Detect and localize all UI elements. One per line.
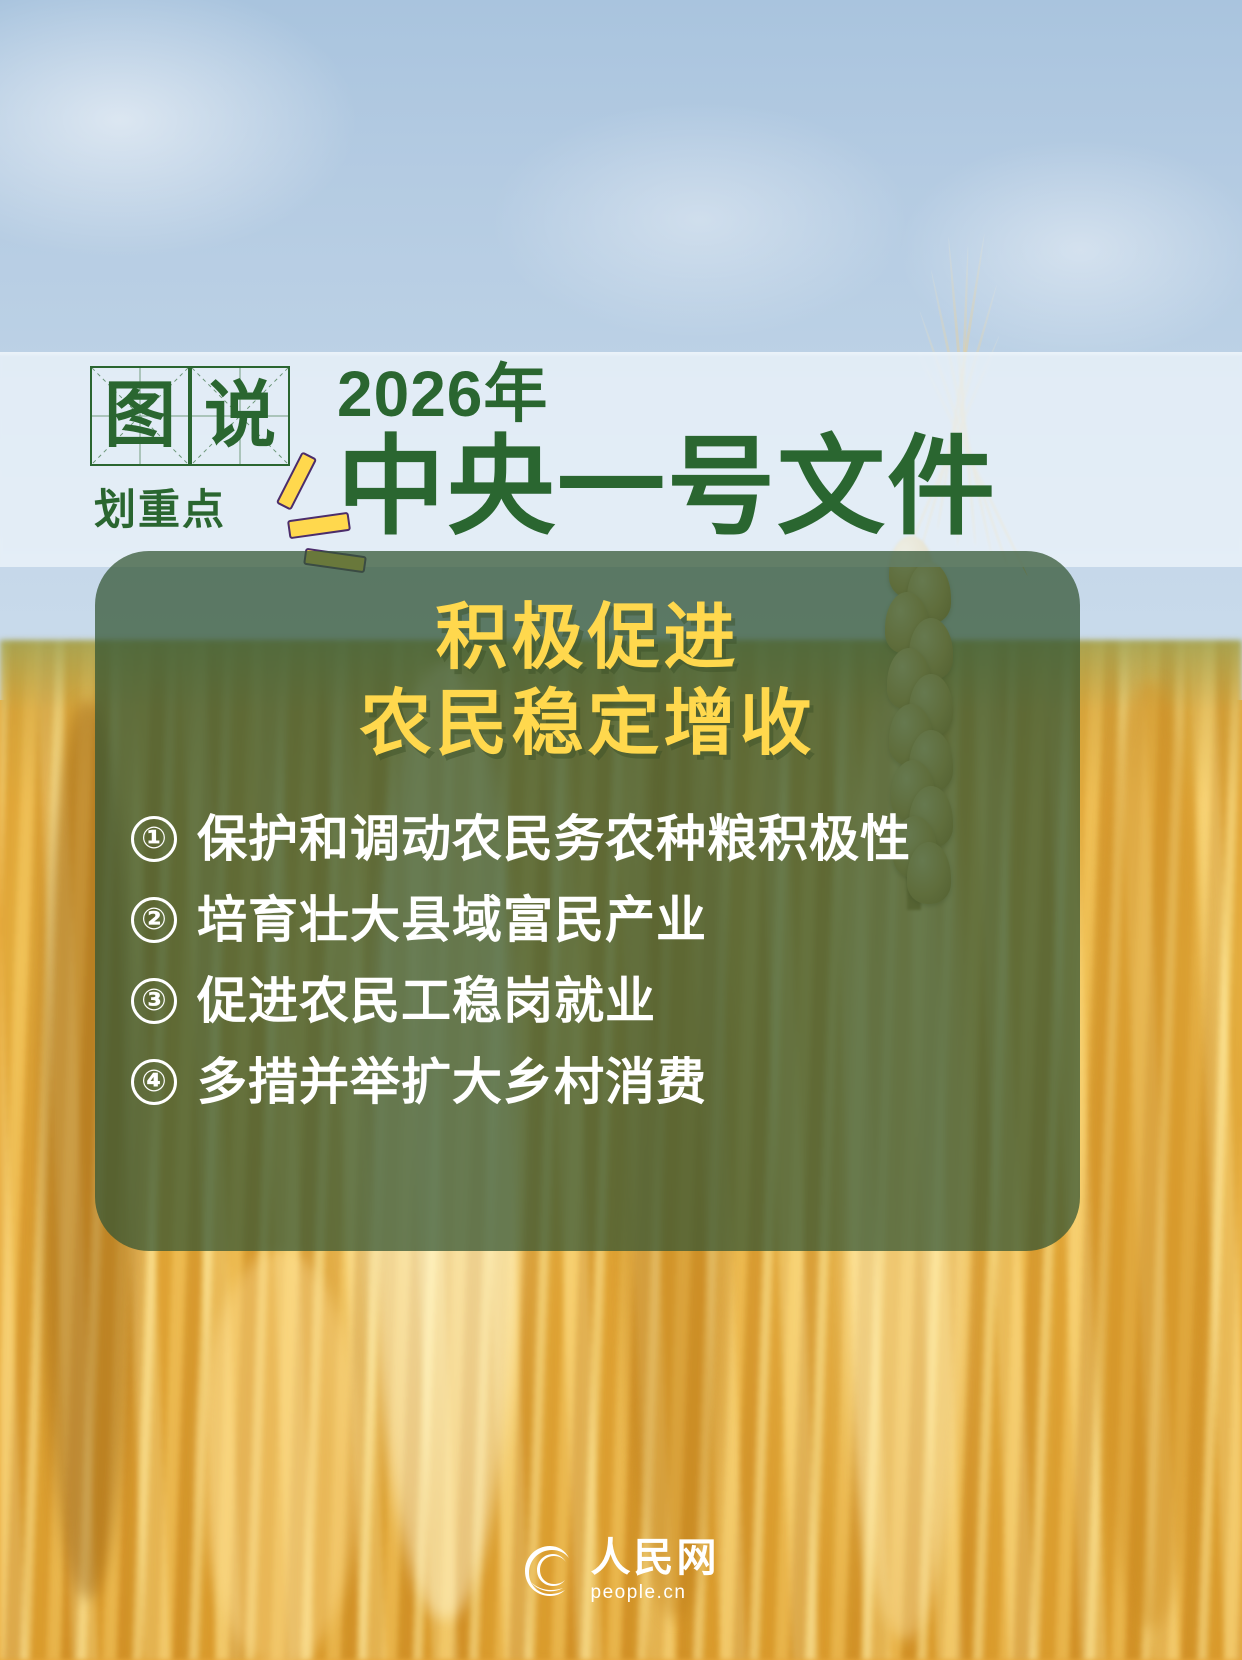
list-item: ④ 多措并举扩大乡村消费	[131, 1055, 1080, 1110]
logo-subtitle: 划重点	[94, 476, 295, 537]
list-item-number: ①	[131, 816, 177, 862]
list-item-label: 培育壮大县域富民产业	[197, 893, 707, 948]
dash-mark-1	[276, 451, 317, 510]
logo-grid-boxes: 图 说	[90, 366, 295, 466]
list-item: ② 培育壮大县域富民产业	[131, 893, 1080, 948]
people-cn-logo: 人民网 people.cn	[0, 1538, 1242, 1604]
list-item-number: ④	[131, 1059, 177, 1105]
grid-box-2: 说	[190, 366, 290, 466]
card-heading: 积极促进 农民稳定增收	[95, 595, 1080, 768]
people-cn-domain: people.cn	[591, 1582, 687, 1604]
list-item: ③ 促进农民工稳岗就业	[131, 974, 1080, 1029]
grid-box-1: 图	[90, 366, 190, 466]
content-card: 积极促进 农民稳定增收 ① 保护和调动农民务农种粮积极性 ② 培育壮大县域富民产…	[95, 551, 1080, 1251]
logo-char-2: 说	[204, 380, 276, 452]
people-cn-mark-icon	[523, 1544, 577, 1598]
list-item: ① 保护和调动农民务农种粮积极性	[131, 812, 1080, 867]
list-item-number: ②	[131, 897, 177, 943]
people-cn-name: 人民网	[591, 1538, 720, 1578]
title-year: 2026年	[337, 362, 997, 426]
card-heading-line2: 农民稳定增收	[95, 681, 1080, 767]
poster-root: 图 说 划重点 2026年 中央一号文件 积极促进 农民稳定增收	[0, 0, 1242, 1660]
list-item-label: 多措并举扩大乡村消费	[197, 1055, 707, 1110]
list-item-label: 保护和调动农民务农种粮积极性	[197, 812, 911, 867]
logo-char-1: 图	[104, 380, 176, 452]
tushuo-logo: 图 说 划重点	[90, 366, 295, 537]
wheat-stalk-column	[1090, 680, 1210, 1630]
list-item-label: 促进农民工稳岗就业	[197, 974, 656, 1029]
poster-title-block: 2026年 中央一号文件	[337, 362, 997, 543]
title-main: 中央一号文件	[337, 430, 997, 543]
card-heading-line1: 积极促进	[435, 598, 739, 678]
list-item-number: ③	[131, 978, 177, 1024]
measures-list: ① 保护和调动农民务农种粮积极性 ② 培育壮大县域富民产业 ③ 促进农民工稳岗就…	[95, 812, 1080, 1110]
people-cn-wordmark: 人民网 people.cn	[591, 1538, 720, 1604]
